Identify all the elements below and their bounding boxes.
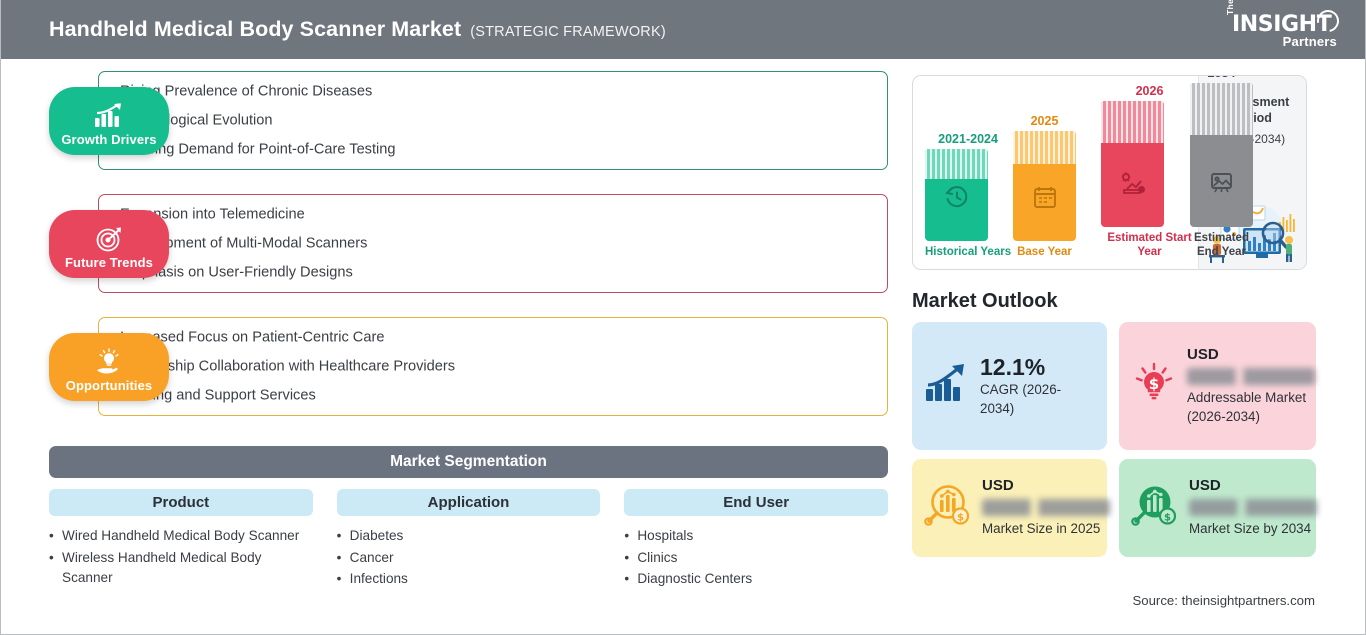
card-label: CAGR (2026-2034): [980, 381, 1095, 418]
page-title: Handheld Medical Body Scanner Market: [49, 17, 461, 42]
lightbulb-dollar-icon: $: [1131, 361, 1177, 412]
target-dart-icon: [95, 225, 124, 252]
magnifier-chart-dollar-icon: $: [924, 483, 972, 534]
list-item: Diabetes: [337, 526, 601, 547]
bar-caption: Estimated End Year: [1190, 231, 1253, 259]
card-body: USD Market Size in 2025: [982, 477, 1110, 539]
redacted-value: [1187, 368, 1315, 385]
list-item: Diagnostic Centers: [624, 569, 888, 590]
bar-shape: [1190, 83, 1253, 227]
card-label: Market Size in 2025: [982, 520, 1110, 539]
magnifier-chart-dollar-icon: $: [1131, 483, 1179, 534]
list-item: Cancer: [337, 548, 601, 569]
segmentation-columns: Product Wired Handheld Medical Body Scan…: [49, 489, 888, 591]
bar-year-label: 2021-2024: [925, 132, 1011, 146]
card-currency: USD: [1189, 477, 1317, 494]
market-segmentation-title: Market Segmentation: [390, 453, 547, 471]
redacted-value: [982, 499, 1110, 516]
segmentation-header: Product: [49, 489, 313, 516]
badge-label: Growth Drivers: [61, 132, 156, 147]
assessment-period-chart: 2021-2024 Historical Years: [912, 75, 1307, 270]
timeline-bar-estimated-start: 2026 Estimated: [1101, 84, 1198, 259]
bar-stripe: [1190, 83, 1253, 135]
market-segmentation-bar: Market Segmentation: [49, 446, 888, 478]
section-future-trends: Future Trends Expansion into Telemedicin…: [1, 182, 901, 305]
bar-year-label: 2026: [1101, 84, 1198, 98]
strategy-sections: Growth Drivers Rising Prevalence of Chro…: [1, 59, 901, 428]
list-item: Wired Handheld Medical Body Scanner: [49, 526, 313, 547]
bar-caption: Historical Years: [925, 245, 1011, 259]
list-item: Infections: [337, 569, 601, 590]
growth-chart-icon: [924, 363, 970, 410]
card-body: USD Addressable Market (2026-2034): [1187, 346, 1315, 426]
bar-stripe: [925, 149, 988, 179]
market-outlook-cards: 12.1% CAGR (2026-2034) $: [912, 322, 1366, 557]
badge-growth-drivers[interactable]: Growth Drivers: [49, 87, 169, 155]
badge-label: Opportunities: [66, 378, 153, 393]
clock-history-icon: [944, 184, 970, 215]
segmentation-column-application: Application Diabetes Cancer Infections: [337, 489, 601, 591]
card-label: Market Size by 2034: [1189, 520, 1317, 539]
badge-opportunities[interactable]: Opportunities: [49, 333, 169, 401]
card-body: 12.1% CAGR (2026-2034): [980, 354, 1095, 418]
segmentation-list: Wired Handheld Medical Body Scanner Wire…: [49, 526, 313, 589]
card-cagr: 12.1% CAGR (2026-2034): [912, 322, 1107, 450]
segmentation-list: Diabetes Cancer Infections: [337, 526, 601, 590]
svg-text:$: $: [957, 512, 964, 523]
timeline-bar-historical: 2021-2024 Historical Years: [925, 132, 1011, 259]
list-item: Wireless Handheld Medical Body Scanner: [49, 548, 313, 589]
segmentation-header: Application: [337, 489, 601, 516]
calendar-icon: [1032, 184, 1058, 215]
redacted-value: [1189, 499, 1317, 516]
card-currency: USD: [982, 477, 1110, 494]
right-panel: 2021-2024 Historical Years: [909, 59, 1366, 557]
section-growth-drivers: Growth Drivers Rising Prevalence of Chro…: [1, 59, 901, 182]
card-market-size-2025: $ USD Market Size in 2025: [912, 459, 1107, 557]
header-titles: Handheld Medical Body Scanner Market (ST…: [49, 17, 666, 42]
list-item: Clinics: [624, 548, 888, 569]
list-item: Hospitals: [624, 526, 888, 547]
insight-partners-logo: The INSIGHT Partners: [1221, 8, 1345, 52]
timeline-bar-base: 2025 Base Year: [1013, 114, 1076, 259]
card-body: USD Market Size by 2034: [1189, 477, 1317, 539]
segmentation-list: Hospitals Clinics Diagnostic Centers: [624, 526, 888, 590]
bar-year-label: 2034: [1190, 75, 1253, 80]
badge-label: Future Trends: [65, 255, 153, 270]
presentation-icon: [1209, 170, 1235, 201]
infographic-page: Handheld Medical Body Scanner Market (ST…: [0, 0, 1366, 635]
lightbulb-hand-icon: [93, 348, 125, 375]
segmentation-header: End User: [624, 489, 888, 516]
card-addressable-market: $ USD Addressable Market (2026-2034): [1119, 322, 1316, 450]
badge-future-trends[interactable]: Future Trends: [49, 210, 169, 278]
bar-caption: Base Year: [1013, 245, 1076, 259]
svg-text:$: $: [1164, 512, 1171, 523]
page-header: Handheld Medical Body Scanner Market (ST…: [1, 0, 1365, 59]
bar-shape: [1101, 101, 1164, 227]
bar-year-label: 2025: [1013, 114, 1076, 128]
section-opportunities: Opportunities Increased Focus on Patient…: [1, 305, 901, 428]
card-market-size-2034: $ USD Market Size by 2034: [1119, 459, 1316, 557]
bar-stripe: [1013, 131, 1076, 164]
bar-shape: [1013, 131, 1076, 241]
page-subtitle: (STRATEGIC FRAMEWORK): [470, 24, 666, 40]
svg-text:$: $: [1149, 375, 1159, 393]
gear-chart-icon: [1120, 170, 1146, 201]
bar-chart-arrow-icon: [94, 102, 124, 129]
card-value: 12.1%: [980, 354, 1095, 381]
source-attribution: Source: theinsightpartners.com: [1132, 593, 1315, 608]
segmentation-column-product: Product Wired Handheld Medical Body Scan…: [49, 489, 313, 591]
timeline-bar-estimated-end: 2034 Estimated End Year: [1190, 75, 1253, 259]
timeline-bars: 2021-2024 Historical Years: [913, 76, 1198, 269]
card-label: Addressable Market (2026-2034): [1187, 389, 1315, 426]
bar-stripe: [1101, 101, 1164, 143]
logo-partners-text: Partners: [1283, 34, 1337, 49]
bar-caption: Estimated Start Year: [1101, 231, 1198, 259]
bar-shape: [925, 149, 988, 241]
card-currency: USD: [1187, 346, 1315, 363]
market-outlook-title: Market Outlook: [912, 290, 1366, 313]
segmentation-column-end-user: End User Hospitals Clinics Diagnostic Ce…: [624, 489, 888, 591]
